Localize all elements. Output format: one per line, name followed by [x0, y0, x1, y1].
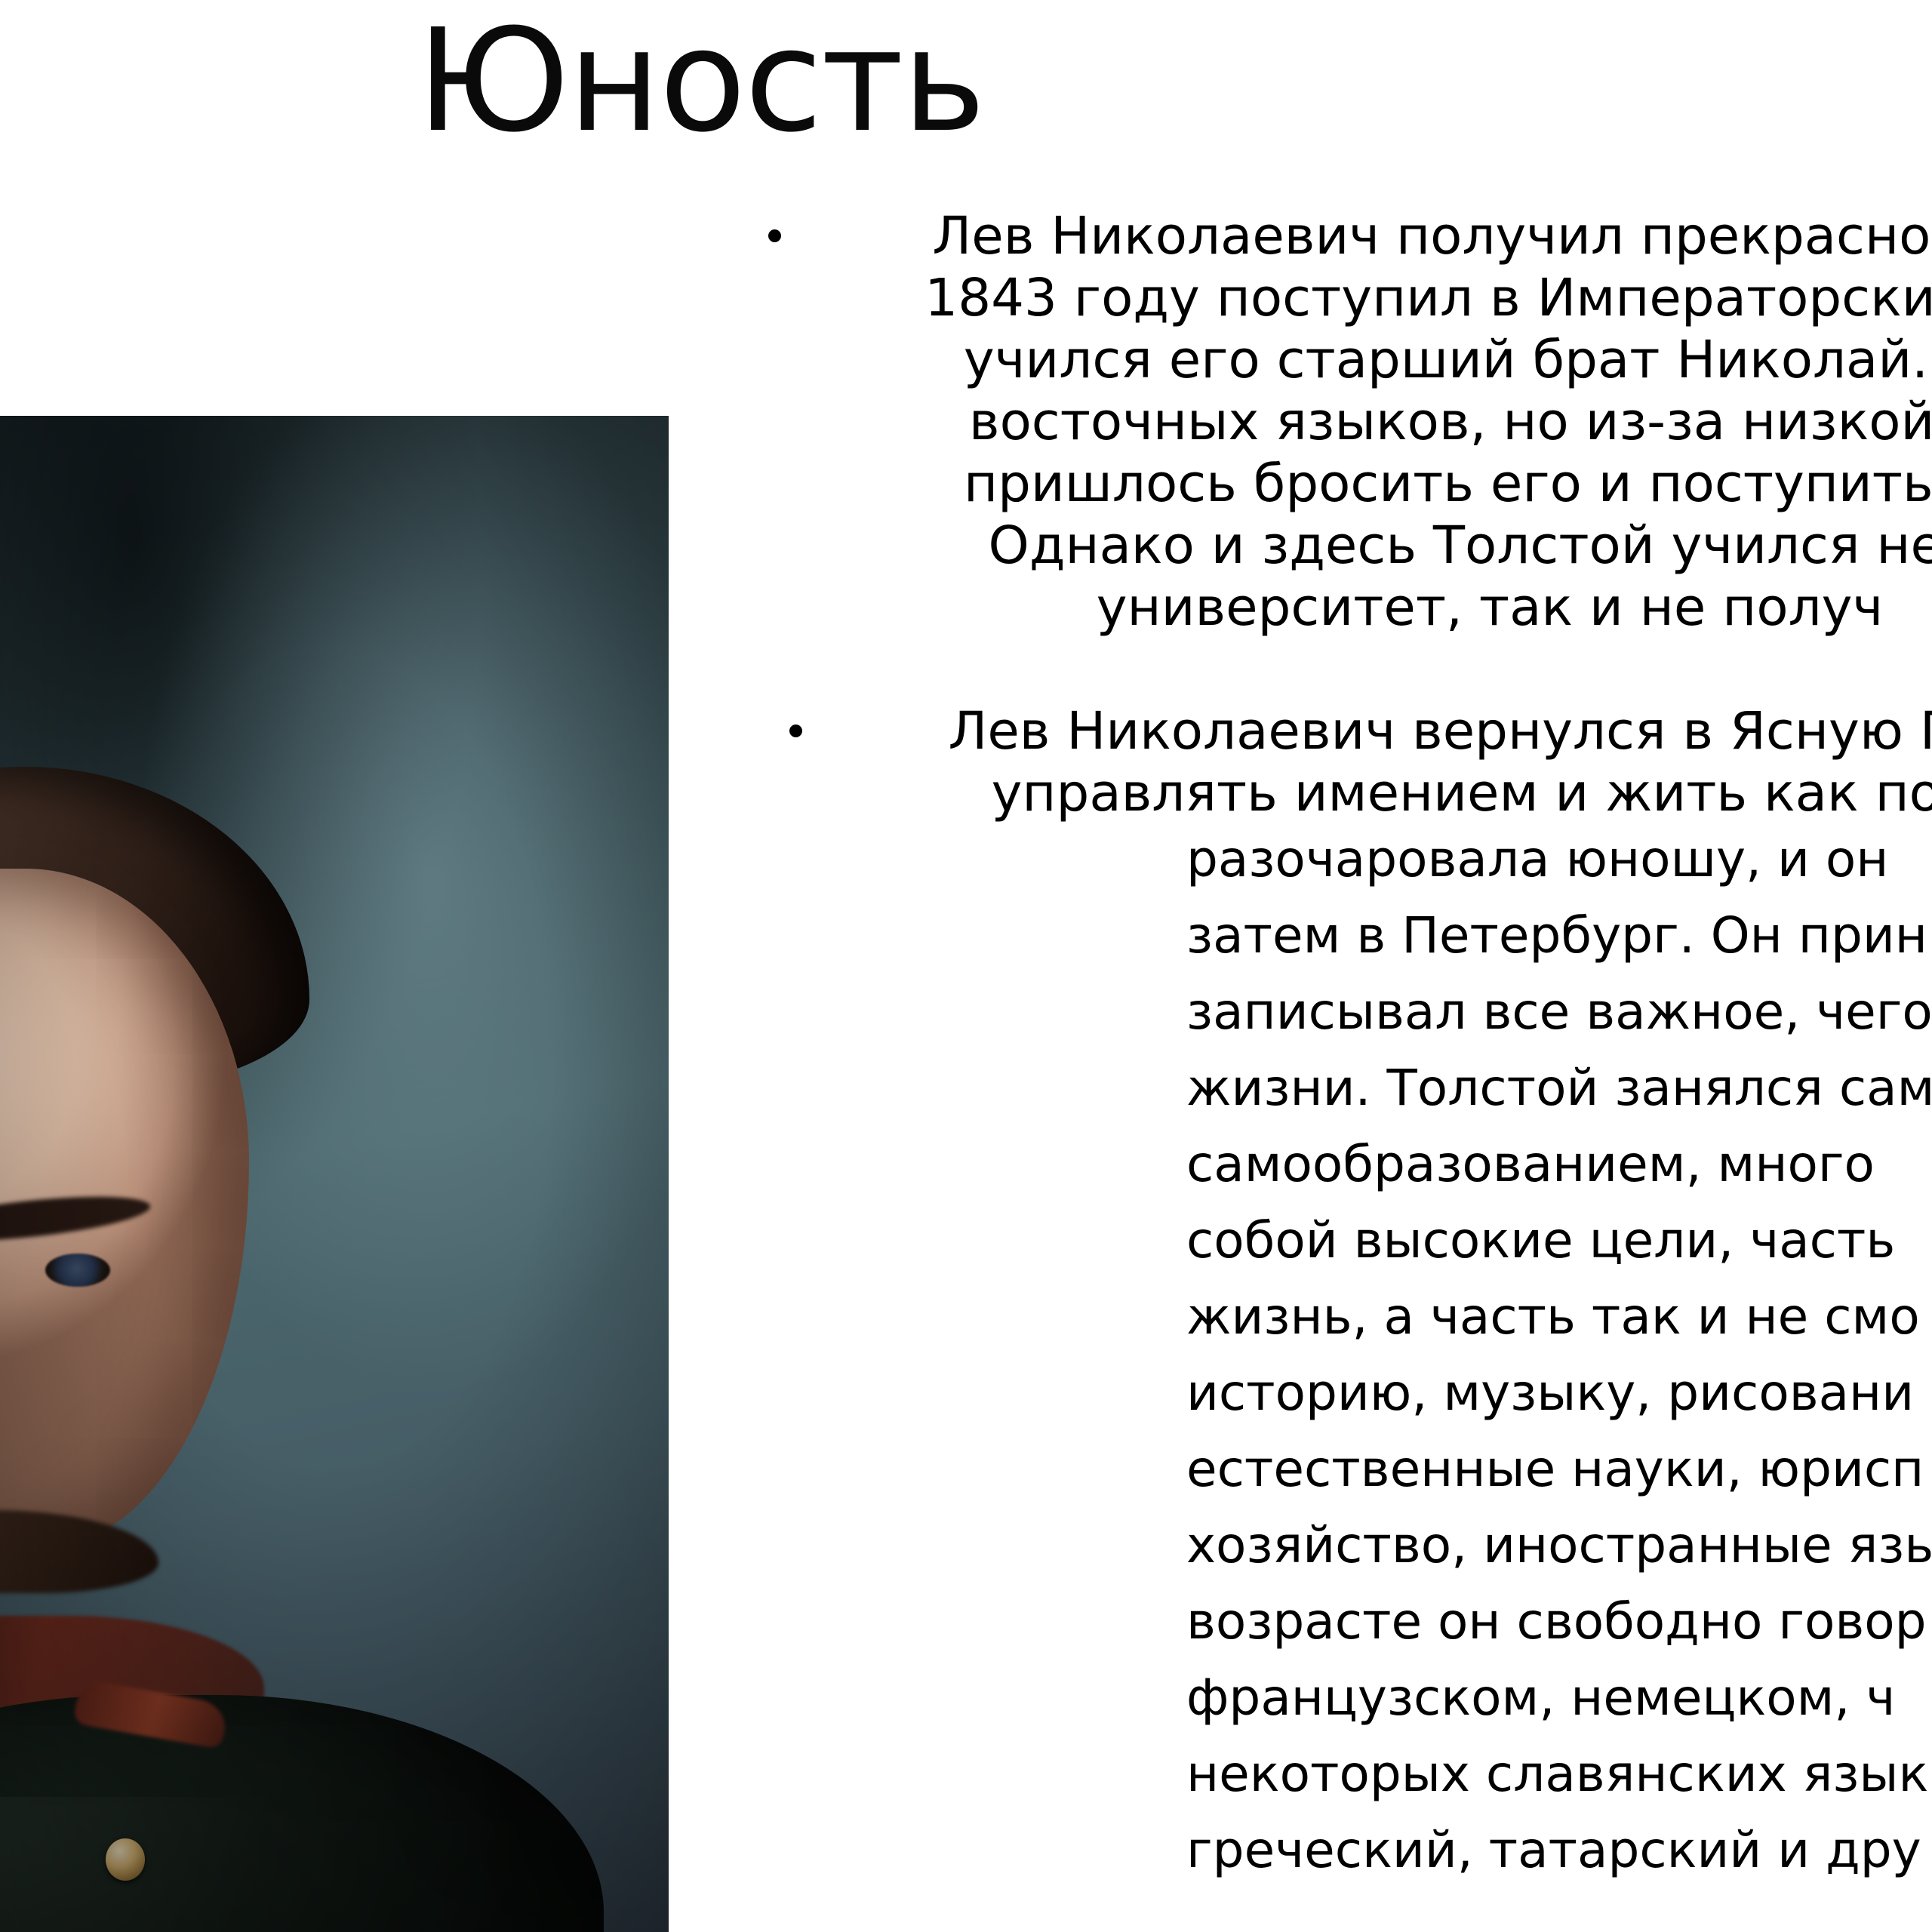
bullet-line: Лев Николаевич вернулся в Ясную Поля	[848, 700, 1932, 762]
presentation-slide: Юность Лев Николаевич получил прекрасное…	[0, 0, 1932, 1932]
bullet-line: восточных языков, но из-за низкой ус	[824, 391, 1932, 453]
portrait-vignette	[0, 416, 669, 1932]
paragraph-line: собой высокие цели, часть	[1186, 1202, 1932, 1278]
portrait-image	[0, 416, 669, 1932]
paragraph-line: записывал все важное, чего	[1186, 974, 1932, 1050]
paragraph-line: французском, немецком, ч	[1186, 1660, 1932, 1736]
bullet-dot-icon	[768, 229, 781, 242]
bullet-line: Однако и здесь Толстой учился не б	[824, 515, 1932, 577]
bullet-line: пришлось бросить его и поступить на	[824, 453, 1932, 515]
bullet-line: управлять имением и жить как поме	[848, 762, 1932, 824]
bullet-line: университет, так и не получ	[824, 577, 1932, 638]
bullet-list: Лев Николаевич получил прекрасное до 184…	[755, 205, 1932, 824]
page-title: Юность	[0, 11, 1666, 152]
paragraph-line: жизнь, а часть так и не смо	[1186, 1278, 1932, 1355]
paragraph-line: затем в Петербург. Он прин	[1186, 897, 1932, 974]
paragraph-line: греческий, татарский и дру	[1186, 1812, 1932, 1888]
paragraph-line: некоторых славянских язык	[1186, 1736, 1932, 1812]
bullet-line: 1843 году поступил в Императорский Ка	[824, 267, 1932, 329]
list-item: Лев Николаевич вернулся в Ясную Поля упр…	[755, 700, 1932, 824]
paragraph-line: историю, музыку, рисовани	[1186, 1355, 1932, 1431]
bullet-line: Лев Николаевич получил прекрасное до	[824, 205, 1932, 267]
paragraph-line: разочаровала юношу, и он	[1186, 821, 1932, 897]
paragraph-line: жизни. Толстой занялся сам	[1186, 1050, 1932, 1126]
paragraph-line: возрасте он свободно говор	[1186, 1583, 1932, 1660]
paragraph-line: хозяйство, иностранные язы	[1186, 1507, 1932, 1583]
list-item: Лев Николаевич получил прекрасное до 184…	[755, 205, 1932, 638]
body-paragraph: разочаровала юношу, и он затем в Петербу…	[1186, 821, 1932, 1888]
bullet-dot-icon	[789, 724, 802, 737]
paragraph-line: самообразованием, много	[1186, 1126, 1932, 1202]
bullet-line: учился его старший брат Николай. По	[824, 329, 1932, 391]
paragraph-line: естественные науки, юрисп	[1186, 1431, 1932, 1507]
